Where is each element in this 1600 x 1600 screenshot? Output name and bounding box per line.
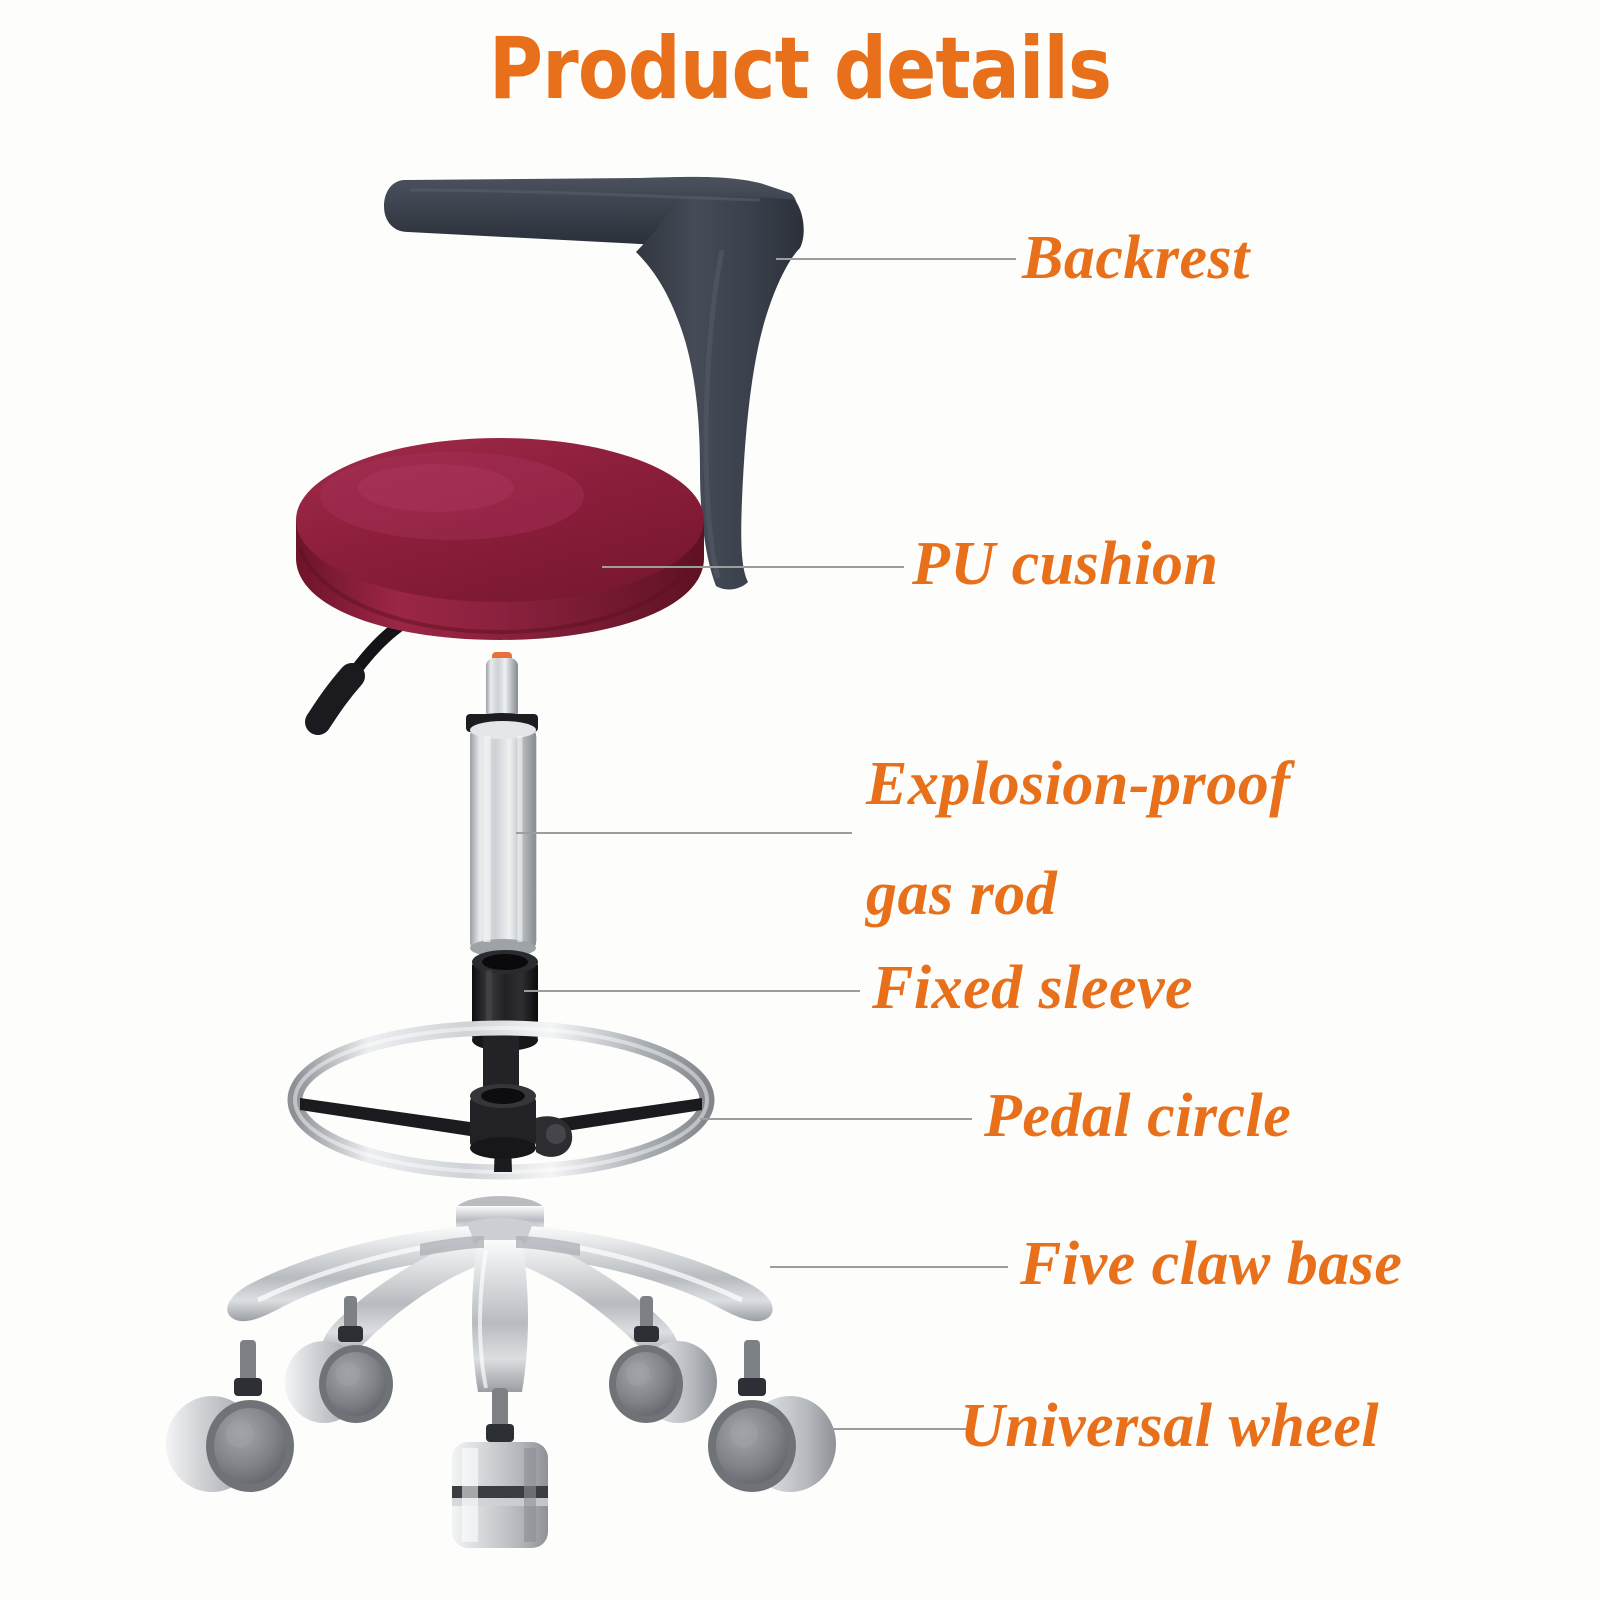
label-gas-rod-line2: gas rod <box>866 858 1057 931</box>
page-title: Product details <box>112 26 1488 112</box>
label-pedal-circle: Pedal circle <box>984 1080 1291 1153</box>
stool-illustration <box>0 0 1600 1600</box>
universal-wheel-part <box>166 1296 836 1548</box>
label-universal-wheel: Universal wheel <box>960 1390 1379 1463</box>
label-backrest: Backrest <box>1022 222 1250 295</box>
leader-line-cushion <box>602 566 904 568</box>
leader-line-fixed-sleeve <box>524 990 860 992</box>
pu-cushion-part <box>296 438 704 640</box>
product-details-page: Product details <box>0 0 1600 1600</box>
gas-rod-part <box>466 652 538 957</box>
leader-line-universal-wheel <box>832 1428 974 1430</box>
label-gas-rod-line1: Explosion-proof <box>866 748 1290 821</box>
label-five-claw-base: Five claw base <box>1020 1228 1402 1301</box>
seat-mechanism-part <box>318 590 645 722</box>
pedal-circle-part <box>295 1028 707 1172</box>
label-pu-cushion: PU cushion <box>912 528 1218 601</box>
label-fixed-sleeve: Fixed sleeve <box>872 952 1193 1025</box>
leader-line-backrest <box>776 258 1016 260</box>
leader-line-pedal-circle <box>700 1118 972 1120</box>
leader-line-five-claw-base <box>770 1266 1008 1268</box>
five-claw-base-part <box>227 1196 772 1392</box>
backrest-part <box>384 177 804 590</box>
fixed-sleeve-part <box>472 950 538 1051</box>
leader-line-gas-rod <box>516 832 852 834</box>
